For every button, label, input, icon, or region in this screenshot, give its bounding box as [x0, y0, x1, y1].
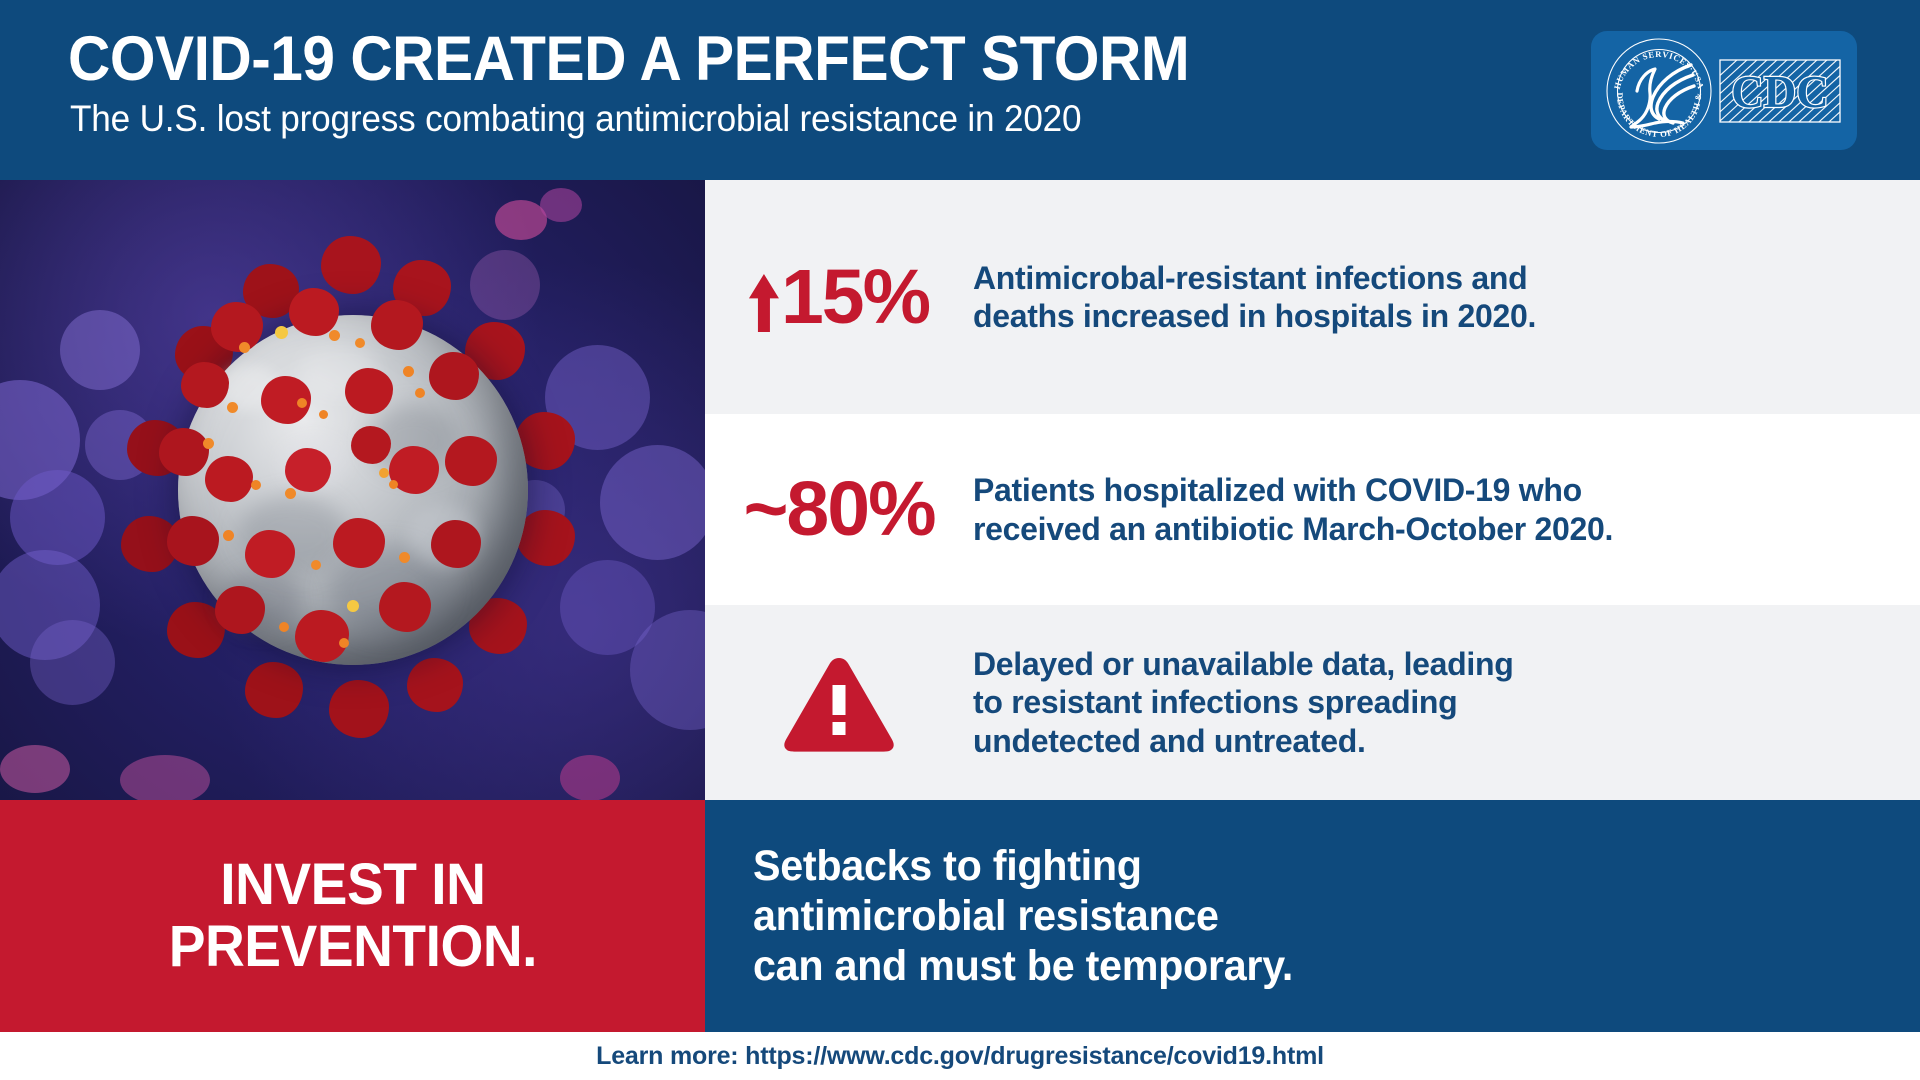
stat-description-line: Antimicrobal-resistant infections and: [973, 259, 1900, 297]
stat-description-line: undetected and untreated.: [973, 722, 1900, 760]
call-to-action-banner: INVEST IN PREVENTION.: [0, 800, 705, 1032]
stat-description-line: Delayed or unavailable data, leading: [973, 645, 1900, 683]
page-title: COVID-19 CREATED A PERFECT STORM: [68, 28, 1189, 91]
virus-particle: [93, 230, 613, 750]
cdc-logo[interactable]: HUMAN SERVICES·USA DEPARTMENT OF HEALTH …: [1591, 31, 1857, 150]
call-to-action-text: INVEST IN PREVENTION.: [168, 854, 536, 978]
message-line: Setbacks to fighting: [753, 841, 1293, 891]
stat-row-15-percent: 15% Antimicrobal-resistant infections an…: [705, 180, 1920, 414]
call-to-action-line: PREVENTION.: [168, 916, 536, 978]
stat-description-line: deaths increased in hospitals in 2020.: [973, 297, 1900, 335]
stat-description: Antimicrobal-resistant infections and de…: [973, 259, 1920, 336]
page-subtitle: The U.S. lost progress combating antimic…: [70, 100, 1081, 137]
infographic-page: COVID-19 CREATED A PERFECT STORM The U.S…: [0, 0, 1920, 1080]
header-banner: COVID-19 CREATED A PERFECT STORM The U.S…: [0, 0, 1920, 180]
warning-triangle-icon: [782, 653, 896, 753]
stat-description-line: Patients hospitalized with COVID-19 who: [973, 471, 1900, 509]
stat-figure: 15%: [705, 259, 973, 336]
stat-description-line: to resistant infections spreading: [973, 683, 1900, 721]
cdc-wordmark-icon: CDC: [1719, 59, 1841, 123]
footer: Learn more: https://www.cdc.gov/drugresi…: [0, 1032, 1920, 1080]
learn-more-link[interactable]: Learn more: https://www.cdc.gov/drugresi…: [596, 1042, 1324, 1071]
message-banner: Setbacks to fighting antimicrobial resis…: [705, 800, 1920, 1032]
coronavirus-image: [0, 180, 705, 800]
arrow-up-icon: [749, 274, 779, 332]
message-line: can and must be temporary.: [753, 941, 1293, 991]
cdc-acronym: CDC: [1731, 67, 1829, 117]
stat-description-line: received an antibiotic March-October 202…: [973, 510, 1900, 548]
stat-row-80-percent: ~80% Patients hospitalized with COVID-19…: [705, 414, 1920, 605]
message-text: Setbacks to fighting antimicrobial resis…: [705, 841, 1293, 992]
call-to-action-line: INVEST IN: [168, 854, 536, 916]
message-line: antimicrobial resistance: [753, 891, 1293, 941]
stat-row-delayed-data: Delayed or unavailable data, leading to …: [705, 605, 1920, 800]
stat-figure: [705, 653, 973, 753]
stat-description: Delayed or unavailable data, leading to …: [973, 645, 1920, 760]
hhs-seal-icon: HUMAN SERVICES·USA DEPARTMENT OF HEALTH …: [1603, 35, 1715, 147]
stat-figure: ~80%: [705, 471, 973, 548]
stat-description: Patients hospitalized with COVID-19 who …: [973, 471, 1920, 548]
stat-number: 15%: [781, 259, 929, 336]
stat-number: ~80%: [743, 471, 934, 548]
